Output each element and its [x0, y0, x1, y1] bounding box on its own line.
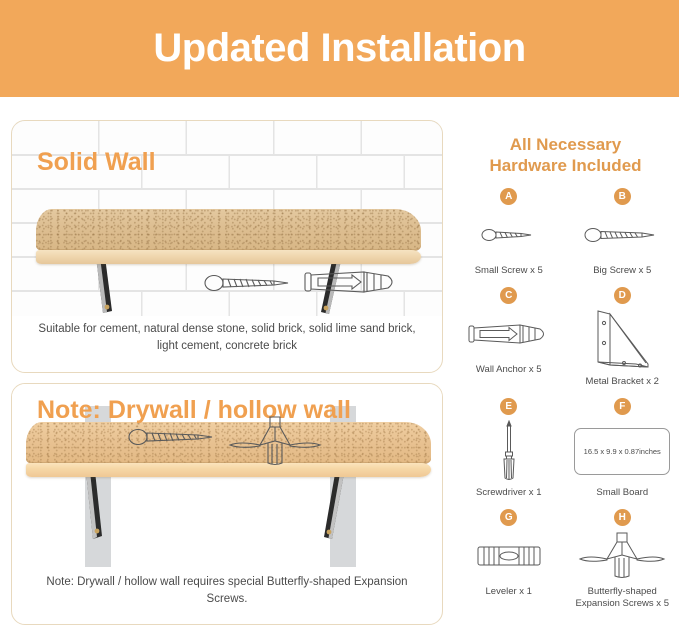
hardware-label: Metal Bracket x 2 — [586, 376, 659, 388]
hardware-section-title: All Necessary Hardware Included — [452, 120, 679, 176]
badge-a: A — [500, 188, 517, 205]
wooden-shelf — [36, 209, 421, 264]
board-dimensions: 16.5 x 9.9 x 0.87inches — [584, 447, 661, 456]
badge-g: G — [500, 509, 517, 526]
header-banner: Updated Installation — [0, 0, 679, 97]
hardware-item-butterfly-expansion-screw: H Butterfly-shaped Ex — [566, 509, 679, 610]
small-board-icon: 16.5 x 9.9 x 0.87inches — [574, 420, 670, 482]
metal-bracket — [320, 468, 350, 544]
hardware-label: Small Screw x 5 — [475, 265, 543, 277]
wall-anchor-outline-icon — [304, 266, 400, 298]
infographic-page: Updated Installation Solid Wall — [0, 0, 679, 634]
solid-wall-caption: Suitable for cement, natural dense stone… — [12, 321, 442, 355]
mortar-line — [12, 188, 442, 190]
badge-f: F — [614, 398, 631, 415]
drywall-scene: Note: Drywall / hollow wall — [12, 384, 442, 567]
badge-h: H — [614, 509, 631, 526]
screwdriver-icon — [496, 420, 522, 482]
badge-b: B — [614, 188, 631, 205]
small-screw-icon — [481, 210, 537, 260]
screw-outline-icon — [204, 271, 296, 295]
butterfly-expansion-screw-icon — [578, 531, 666, 581]
board-outline: 16.5 x 9.9 x 0.87inches — [574, 428, 670, 475]
shelf-top-surface — [36, 209, 421, 251]
badge-e: E — [500, 398, 517, 415]
hardware-label: Butterfly-shaped Expansion Screws x 5 — [570, 586, 676, 610]
butterfly-anchor-outline-icon — [228, 415, 322, 467]
page-title: Updated Installation — [153, 26, 525, 71]
drywall-panel: Note: Drywall / hollow wall — [11, 383, 443, 625]
hardware-label: Screwdriver x 1 — [476, 487, 541, 499]
solid-wall-panel: Solid Wall — [11, 120, 443, 373]
hardware-item-screwdriver: E Screwdriver x 1 — [452, 398, 566, 499]
wall-anchor-icon — [468, 309, 550, 359]
hardware-item-small-board: F 16.5 x 9.9 x 0.87inches Small Board — [566, 398, 679, 499]
screw-outline-icon — [128, 425, 220, 449]
hardware-list-section: All Necessary Hardware Included A — [452, 120, 679, 634]
solid-wall-scene: Solid Wall — [12, 121, 442, 316]
big-screw-icon — [584, 210, 660, 260]
hardware-item-metal-bracket: D Metal Bracket x 2 — [566, 287, 679, 388]
hardware-item-leveler: G Leveler x 1 — [452, 509, 566, 610]
hardware-item-small-screw: A Small Screw x 5 — [452, 188, 566, 277]
drywall-caption: Note: Drywall / hollow wall requires spe… — [12, 574, 442, 608]
solid-wall-heading: Solid Wall — [37, 148, 156, 177]
hardware-label: Big Screw x 5 — [593, 265, 651, 277]
hardware-grid: A Small Screw x 5 B — [452, 188, 679, 610]
hardware-item-wall-anchor: C Wall Anchor x 5 — [452, 287, 566, 388]
hardware-title-line1: All Necessary — [456, 134, 675, 155]
shelf-front-edge — [36, 250, 421, 264]
hardware-label: Wall Anchor x 5 — [476, 364, 542, 376]
hardware-item-big-screw: B Big Screw x 5 — [566, 188, 679, 277]
badge-d: D — [614, 287, 631, 304]
leveler-icon — [476, 531, 542, 581]
hardware-label: Leveler x 1 — [486, 586, 532, 598]
metal-bracket-icon — [590, 309, 654, 371]
hardware-title-line2: Hardware Included — [456, 155, 675, 176]
hardware-label: Small Board — [596, 487, 648, 499]
badge-c: C — [500, 287, 517, 304]
